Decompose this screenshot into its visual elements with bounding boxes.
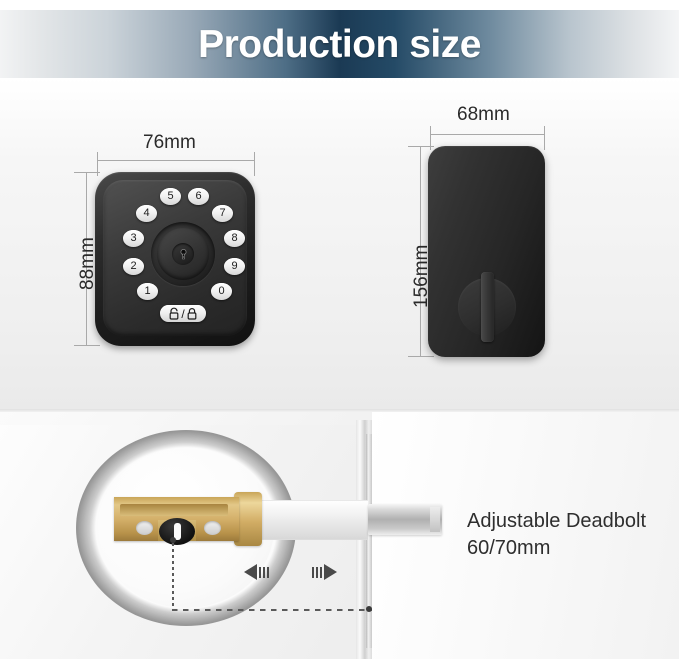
- deadbolt-caption: Adjustable Deadbolt 60/70mm: [467, 508, 646, 562]
- latch-screw-hole-left: [136, 521, 153, 535]
- front-width-label: 76mm: [143, 133, 196, 152]
- key-8[interactable]: 8: [224, 230, 245, 247]
- arrow-left-head-icon: [244, 564, 257, 580]
- deadbolt-caption-line2: 60/70mm: [467, 535, 646, 562]
- page-title: Production size: [198, 25, 481, 64]
- key-5[interactable]: 5: [160, 188, 181, 205]
- back-width-tick-right: [544, 126, 545, 150]
- header-banner: Production size: [0, 10, 679, 78]
- key-7[interactable]: 7: [212, 205, 233, 222]
- thumbturn-bar: [481, 272, 494, 342]
- interior-thumbturn-panel: [428, 146, 545, 357]
- thumbturn-knob[interactable]: [458, 278, 516, 336]
- key-2[interactable]: 2: [123, 258, 144, 275]
- front-height-tick-bottom: [74, 345, 100, 346]
- latch-cam: [159, 518, 195, 545]
- measure-end-node: [366, 606, 372, 612]
- lock-icon: [186, 307, 198, 320]
- key-4[interactable]: 4: [136, 205, 157, 222]
- adjust-left-arrow: [244, 564, 269, 580]
- front-height-tick-top: [74, 172, 100, 173]
- lock-unlock-button[interactable]: /: [160, 305, 206, 322]
- deadbolt-head: [368, 504, 442, 535]
- keypad-face: 5 6 4 7 3 8 2 9 1 0 /: [103, 180, 247, 336]
- back-height-tick-top: [408, 146, 434, 147]
- deadbolt-caption-line1: Adjustable Deadbolt: [467, 508, 646, 535]
- key-0[interactable]: 0: [211, 283, 232, 300]
- latch-screw-hole-right: [204, 521, 221, 535]
- lock-separator: /: [181, 307, 184, 321]
- back-width-label: 68mm: [457, 105, 510, 124]
- lock-unlock-glyphs: /: [168, 307, 197, 321]
- back-height-tick-bottom: [408, 356, 434, 357]
- deadbolt-head-cap: [430, 507, 440, 532]
- key-3[interactable]: 3: [123, 230, 144, 247]
- infographic-root: Production size 76mm 88mm: [0, 0, 679, 659]
- back-width-dimension-line: [430, 134, 545, 135]
- latch-groove: [120, 504, 228, 516]
- arrow-right-bars: [312, 567, 322, 578]
- front-width-dimension-line: [97, 160, 255, 161]
- unlock-icon: [168, 307, 180, 320]
- measure-horizontal-dotted-line: [172, 609, 372, 611]
- key-6[interactable]: 6: [188, 188, 209, 205]
- arrow-left-bars: [259, 567, 269, 578]
- keypad-front-panel: 5 6 4 7 3 8 2 9 1 0 /: [95, 172, 255, 346]
- latch-assembly: [114, 497, 239, 541]
- strike-plate: [366, 434, 372, 648]
- deadbolt-shaft: [258, 500, 368, 540]
- key-9[interactable]: 9: [224, 258, 245, 275]
- adjust-right-arrow: [312, 564, 337, 580]
- arrow-right-head-icon: [324, 564, 337, 580]
- front-width-tick-right: [254, 152, 255, 176]
- key-1[interactable]: 1: [137, 283, 158, 300]
- measure-vertical-dotted-line: [172, 543, 174, 611]
